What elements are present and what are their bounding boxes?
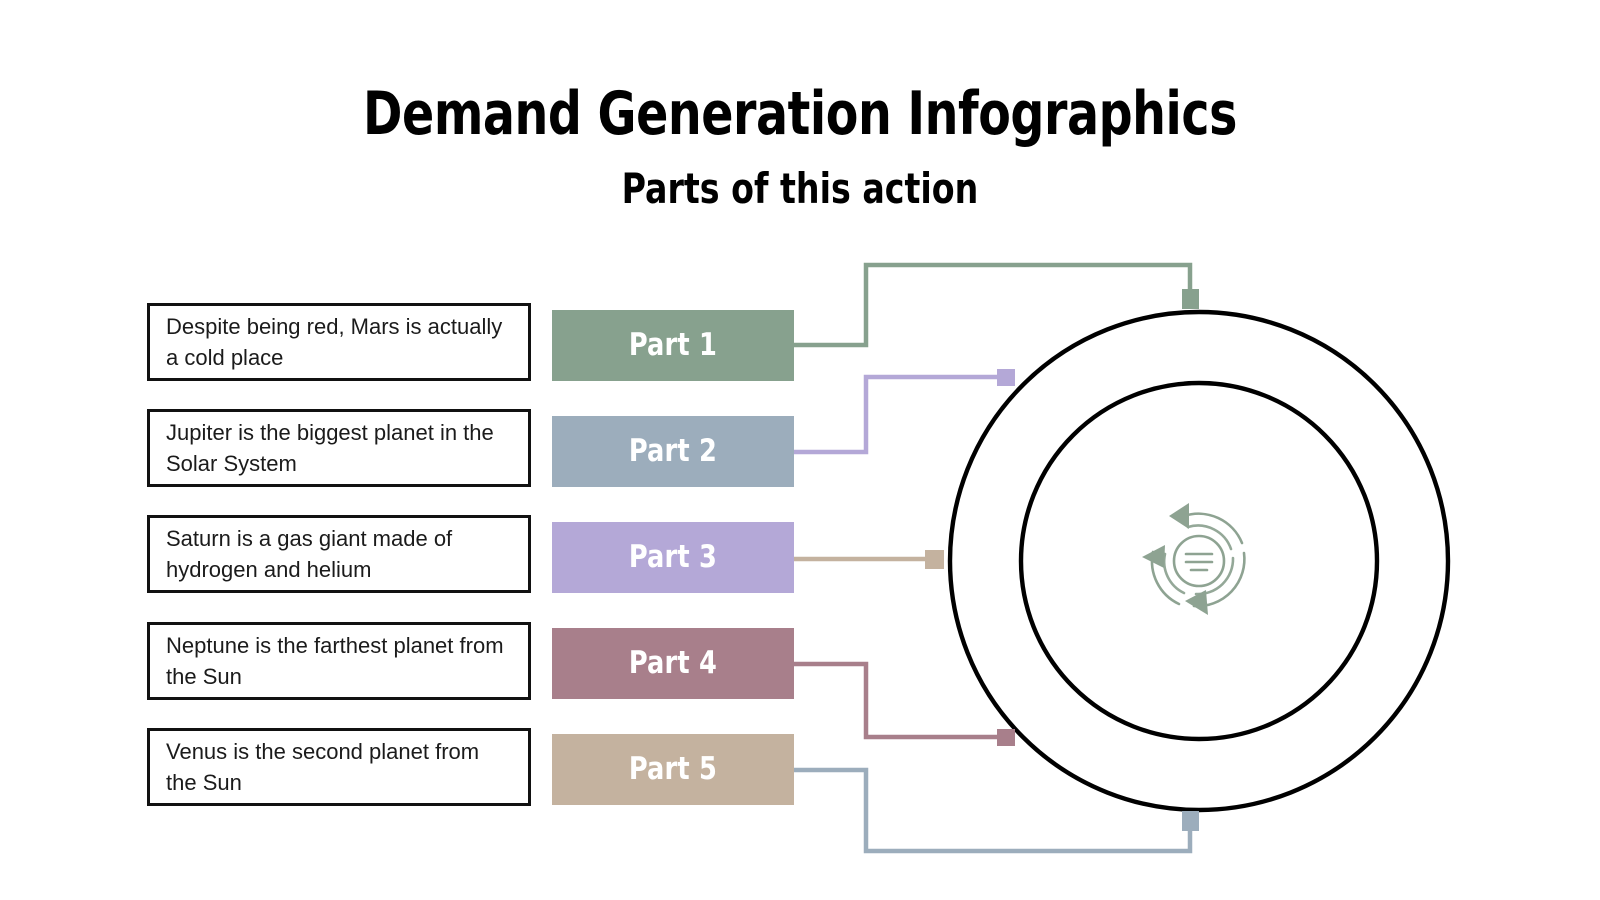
node-marker-part-1[interactable]	[1182, 289, 1199, 309]
description-text: Venus is the second planet from the Sun	[150, 736, 528, 798]
description-text: Neptune is the farthest planet from the …	[150, 630, 528, 692]
part-bar-5[interactable]: Part 5	[552, 734, 794, 805]
part-bar-1[interactable]: Part 1	[552, 310, 794, 381]
description-text: Saturn is a gas giant made of hydrogen a…	[150, 523, 528, 585]
node-marker-part-4[interactable]	[997, 729, 1015, 746]
description-box-part-3[interactable]: Saturn is a gas giant made of hydrogen a…	[147, 515, 531, 593]
description-text: Despite being red, Mars is actually a co…	[150, 311, 528, 373]
page-subtitle: Parts of this action	[96, 163, 1504, 215]
node-marker-part-2[interactable]	[997, 369, 1015, 386]
node-marker-part-5[interactable]	[1182, 811, 1199, 831]
part-bar-label: Part 4	[629, 648, 717, 679]
part-bar-2[interactable]: Part 2	[552, 416, 794, 487]
description-box-part-4[interactable]: Neptune is the farthest planet from the …	[147, 622, 531, 700]
description-box-part-2[interactable]: Jupiter is the biggest planet in the Sol…	[147, 409, 531, 487]
part-bar-label: Part 5	[629, 754, 717, 785]
part-bar-label: Part 2	[629, 436, 717, 467]
part-bar-label: Part 3	[629, 542, 717, 573]
part-bar-label: Part 1	[629, 330, 717, 361]
connector-part-4	[794, 664, 1007, 737]
part-bar-3[interactable]: Part 3	[552, 522, 794, 593]
node-marker-part-3[interactable]	[925, 550, 944, 569]
connector-part-2	[794, 377, 1007, 452]
outer-ring-circle	[950, 312, 1448, 810]
title-block: Demand Generation Infographics Parts of …	[0, 78, 1600, 215]
description-box-part-5[interactable]: Venus is the second planet from the Sun	[147, 728, 531, 806]
slide-canvas: Demand Generation Infographics Parts of …	[0, 0, 1600, 900]
part-bar-4[interactable]: Part 4	[552, 628, 794, 699]
description-box-part-1[interactable]: Despite being red, Mars is actually a co…	[147, 303, 531, 381]
connector-part-1	[794, 265, 1190, 345]
recycle-cycle-icon	[1142, 503, 1244, 615]
connector-part-5	[794, 770, 1190, 851]
description-text: Jupiter is the biggest planet in the Sol…	[150, 417, 528, 479]
page-title: Demand Generation Infographics	[96, 78, 1504, 150]
inner-ring-circle	[1021, 383, 1377, 739]
